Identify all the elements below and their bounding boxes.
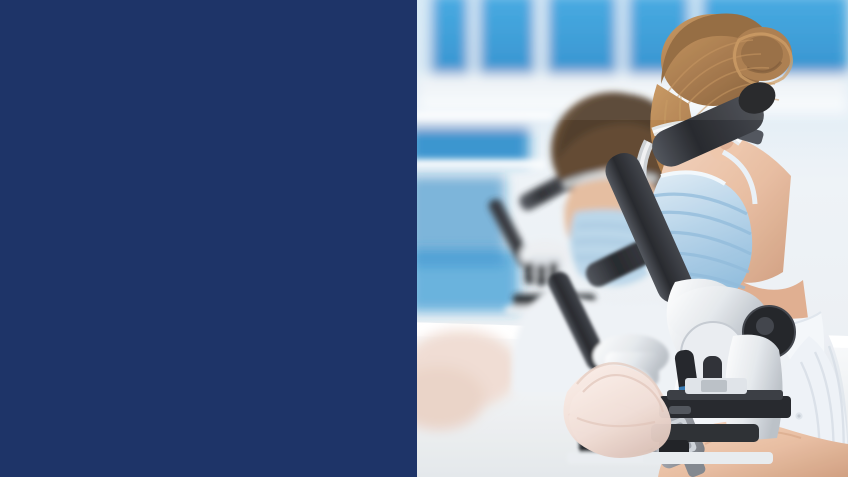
laboratory-photograph <box>417 0 848 477</box>
presentation-slide: INSTITUTO SUPERIOR CLAUDIO GALEN <box>0 0 848 477</box>
title-panel <box>0 0 417 477</box>
